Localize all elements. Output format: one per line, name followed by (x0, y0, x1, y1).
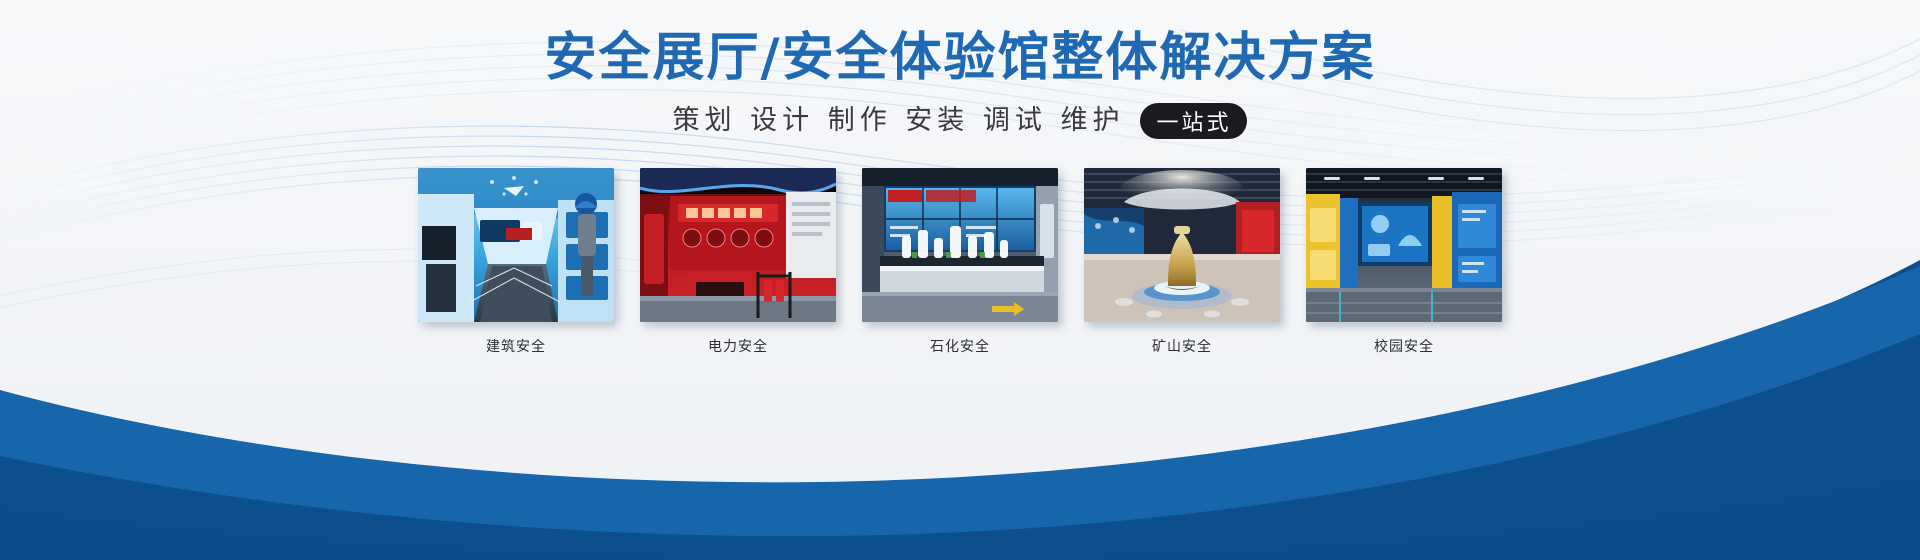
one-stop-badge: 一站式 (1140, 103, 1247, 139)
gallery-item[interactable]: 校园安全 (1306, 168, 1502, 356)
gallery-caption: 电力安全 (708, 336, 768, 356)
gallery-caption: 石化安全 (930, 336, 990, 356)
safety-exhibition-banner: 安全展厅/安全体验馆整体解决方案 策划 设计 制作 安装 调试 维护 一站式 (0, 0, 1920, 560)
gallery-caption: 矿山安全 (1152, 336, 1212, 356)
thumbnail-image-mining[interactable] (1084, 168, 1280, 322)
thumbnail-image-campus[interactable] (1306, 168, 1502, 322)
subtitle-services: 策划 设计 制作 安装 调试 维护 (673, 102, 1125, 140)
page-title: 安全展厅/安全体验馆整体解决方案 (0, 26, 1920, 90)
thumbnail-image-power[interactable] (640, 168, 836, 322)
gallery-item[interactable]: 石化安全 (862, 168, 1058, 356)
thumbnail-image-construction[interactable] (418, 168, 614, 322)
subtitle-row: 策划 设计 制作 安装 调试 维护 一站式 (0, 102, 1920, 140)
thumbnail-gallery: 建筑安全 (0, 168, 1920, 356)
thumbnail-image-petrochemical[interactable] (862, 168, 1058, 322)
gallery-item[interactable]: 电力安全 (640, 168, 836, 356)
gallery-caption: 建筑安全 (486, 336, 546, 356)
gallery-item[interactable]: 矿山安全 (1084, 168, 1280, 356)
gallery-item[interactable]: 建筑安全 (418, 168, 614, 356)
gallery-caption: 校园安全 (1374, 336, 1434, 356)
